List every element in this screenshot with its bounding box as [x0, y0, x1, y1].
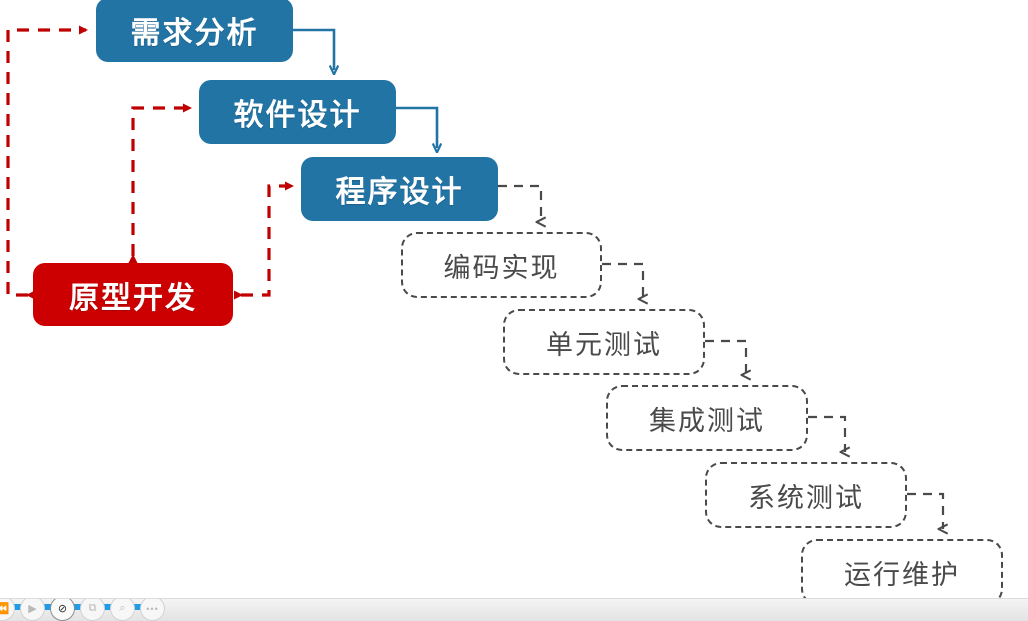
search-glyph: ⌕: [119, 602, 125, 615]
edge-progdesign-to-coding: [498, 186, 541, 222]
node-unit-test[interactable]: 单元测试: [503, 309, 705, 375]
edge-proto-to-req: [8, 30, 86, 295]
process-flow-diagram: 需求分析 软件设计 程序设计 原型开发 编码实现 单元测试 集成测试 系统测试 …: [0, 0, 1028, 598]
rewind-glyph: ⏪: [0, 602, 9, 615]
node-label: 需求分析: [131, 8, 259, 52]
more-glyph: •••: [146, 604, 158, 614]
node-program-design[interactable]: 程序设计: [301, 157, 498, 221]
node-label: 软件设计: [234, 90, 362, 134]
video-player-controlbar[interactable]: ⏪ ▶ ⊘ ⧉ ⌕ •••: [0, 598, 1028, 621]
node-label: 集成测试: [649, 399, 765, 438]
node-label: 程序设计: [336, 167, 464, 211]
player-button-row: ⏪ ▶ ⊘ ⧉ ⌕ •••: [0, 598, 165, 621]
edge-coding-to-unittest: [602, 264, 643, 299]
node-prototype-development[interactable]: 原型开发: [33, 263, 233, 326]
node-requirement-analysis[interactable]: 需求分析: [96, 0, 293, 62]
node-label: 单元测试: [546, 323, 662, 362]
pip-glyph: ⧉: [89, 602, 97, 615]
node-label: 系统测试: [748, 476, 864, 515]
edge-systest-to-maintain: [907, 494, 943, 529]
search-icon[interactable]: ⌕: [110, 598, 135, 621]
play-glyph: ▶: [28, 602, 36, 615]
ban-glyph: ⊘: [58, 602, 67, 615]
edge-proto-to-progdesign: [241, 186, 292, 295]
node-label: 运行维护: [844, 553, 960, 592]
pip-icon[interactable]: ⧉: [80, 598, 105, 621]
node-label: 原型开发: [69, 273, 197, 317]
edge-req-to-softdesign: [293, 30, 334, 70]
node-system-test[interactable]: 系统测试: [705, 462, 907, 528]
node-label: 编码实现: [444, 246, 560, 285]
edge-proto-to-softdesign: [133, 108, 190, 256]
node-coding-implementation[interactable]: 编码实现: [401, 232, 602, 298]
play-icon[interactable]: ▶: [20, 598, 45, 621]
more-icon[interactable]: •••: [140, 598, 165, 621]
node-software-design[interactable]: 软件设计: [199, 80, 396, 144]
ban-icon[interactable]: ⊘: [50, 598, 75, 621]
edge-inttest-to-systest: [808, 417, 845, 452]
edge-unittest-to-inttest: [705, 341, 746, 375]
node-integration-test[interactable]: 集成测试: [606, 385, 808, 451]
edge-softdesign-to-progdesign: [396, 108, 437, 148]
node-operation-maintenance[interactable]: 运行维护: [801, 539, 1003, 605]
rewind-icon[interactable]: ⏪: [0, 598, 15, 621]
screenshot-root: 需求分析 软件设计 程序设计 原型开发 编码实现 单元测试 集成测试 系统测试 …: [0, 0, 1028, 621]
